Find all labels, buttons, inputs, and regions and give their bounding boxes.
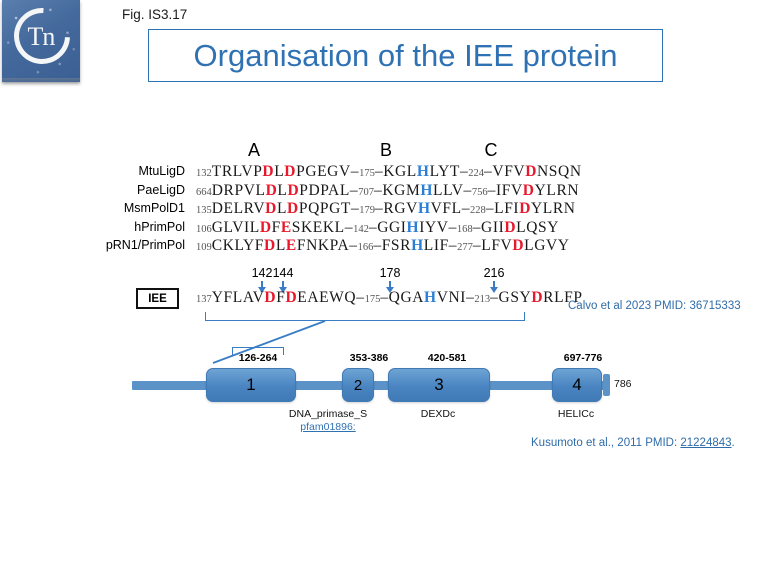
sequence-text: GLVIL	[212, 219, 260, 236]
catalytic-residue-blue: H	[417, 163, 430, 180]
citation-kusumoto-text: Kusumoto et al., 2011 PMID:	[531, 437, 680, 449]
sequence-text: DELRV	[212, 200, 265, 217]
sequence-text: VNI–	[437, 289, 475, 306]
position-pointer-arrow-icon	[493, 281, 495, 288]
sequence-text: –KGM	[374, 182, 420, 199]
sequence-text: YLRN	[531, 200, 576, 217]
protein-name-label: PaeLigD	[0, 183, 185, 197]
position-pointer-arrow-icon	[282, 281, 284, 288]
protein-sequence: 664DRPVLDLDPDPAL–707–KGMHLLV–756–IFVDYLR…	[196, 182, 579, 200]
sequence-text: –KGL	[375, 163, 417, 180]
sequence-text: YFLAV	[212, 289, 265, 306]
motif-header-c: C	[485, 140, 498, 161]
sequence-text: IYV–	[419, 219, 457, 236]
motif-header-a: A	[248, 140, 260, 161]
sequence-text: –RGV	[375, 200, 418, 217]
sequence-text: PDPAL–	[299, 182, 358, 199]
sequence-text: EAEWQ–	[297, 289, 364, 306]
residue-position-number: 135	[196, 205, 212, 216]
catalytic-residue-red: D	[512, 237, 524, 254]
catalytic-residue-red: D	[262, 163, 274, 180]
motif-header-b: B	[380, 140, 392, 161]
catalytic-residue-red: D	[260, 219, 272, 236]
protein-name-label: MtuLigD	[0, 164, 185, 178]
sequence-text: PGEGV–	[296, 163, 359, 180]
protein-length-label: 786	[614, 378, 632, 390]
iee-sequence: 137YFLAVDFDEAEWQ–175–QGAHVNI–213–GSYDRLF…	[196, 289, 583, 307]
alignment-row: MsmPolD1135DELRVDLDPQPGT–179–RGVHVFL–228…	[0, 201, 780, 220]
sequence-text: LYT–	[430, 163, 469, 180]
sequence-text: –IFV	[488, 182, 523, 199]
domain4-range-label: 697-776	[564, 352, 603, 364]
catalytic-residue-red: D	[504, 219, 516, 236]
residue-position-number: 664	[196, 187, 212, 198]
sequence-text: –GSY	[490, 289, 531, 306]
alignment-row: PaeLigD664DRPVLDLDPDPAL–707–KGMHLLV–756–…	[0, 183, 780, 202]
residue-position-marker: 144	[273, 266, 294, 280]
catalytic-residue-red: D	[519, 200, 531, 217]
sequence-text: VFL–	[431, 200, 470, 217]
residue-position-number: 756	[472, 187, 488, 198]
title-box: Organisation of the IEE protein	[148, 29, 663, 82]
citation-kusumoto: Kusumoto et al., 2011 PMID: 21224843.	[531, 437, 735, 449]
catalytic-residue-red: D	[523, 182, 535, 199]
residue-position-number: 106	[196, 224, 212, 235]
domain3-range-label: 420-581	[428, 352, 467, 364]
domain-box-1[interactable]: 1	[206, 368, 296, 402]
catalytic-residue-red: D	[264, 237, 276, 254]
sequence-text: –VFV	[484, 163, 525, 180]
residue-position-number: 137	[196, 294, 212, 305]
residue-position-number: 707	[358, 187, 374, 198]
residue-position-number: 166	[358, 242, 374, 253]
pfam-link[interactable]: pfam01896:	[300, 421, 355, 433]
catalytic-residue-red: D	[287, 200, 299, 217]
residue-position-number: 224	[468, 168, 484, 179]
sequence-text: NSQN	[537, 163, 582, 180]
page-title: Organisation of the IEE protein	[194, 38, 618, 74]
residue-position-number: 175	[365, 294, 381, 305]
alignment-row: MtuLigD132TRLVPDLDPGEGV–175–KGLHLYT–224–…	[0, 164, 780, 183]
residue-position-number: 168	[457, 224, 473, 235]
residue-position-marker: 142	[252, 266, 273, 280]
sequence-text: L	[277, 182, 287, 199]
sequence-text: TRLVP	[212, 163, 263, 180]
protein-end-cap	[603, 374, 610, 396]
catalytic-residue-blue: H	[424, 289, 437, 306]
residue-position-number: 175	[359, 168, 375, 179]
domain-number-4: 4	[572, 375, 581, 395]
residue-position-number: 109	[196, 242, 212, 253]
sequence-text: –GGI	[369, 219, 407, 236]
catalytic-residue-blue: H	[407, 219, 420, 236]
iee-region-bracket	[205, 312, 525, 321]
protein-name-label: hPrimPol	[0, 220, 185, 234]
motif-header-row: ABC	[0, 140, 780, 164]
position-pointer-arrow-icon	[389, 281, 391, 288]
catalytic-residue-blue: H	[420, 182, 433, 199]
sequence-text: –LFI	[486, 200, 519, 217]
alignment-row: pRN1/PrimPol109CKLYFDLEFNKPA–166–FSRHLIF…	[0, 238, 780, 257]
sequence-text: –QGA	[380, 289, 424, 306]
residue-position-number: 142	[353, 224, 369, 235]
domain-number-2: 2	[354, 377, 362, 394]
protein-name-label: pRN1/PrimPol	[0, 238, 185, 252]
residue-position-marker: 216	[484, 266, 505, 280]
catalytic-residue-red: D	[265, 200, 277, 217]
logo-shadow	[2, 78, 80, 84]
catalytic-residue-red: D	[531, 289, 543, 306]
protein-name-label: MsmPolD1	[0, 201, 185, 215]
protein-sequence: 109CKLYFDLEFNKPA–166–FSRHLIF–277–LFVDLGV…	[196, 237, 570, 255]
protein-sequence: 135DELRVDLDPQPGT–179–RGVHVFL–228–LFIDYLR…	[196, 200, 576, 218]
iee-label-box: IEE	[136, 288, 179, 309]
catalytic-residue-red: D	[525, 163, 537, 180]
residue-position-marker: 178	[380, 266, 401, 280]
logo-tn-text: Tn	[2, 22, 80, 52]
catalytic-residue-red: D	[266, 182, 278, 199]
catalytic-residue-red: D	[284, 163, 296, 180]
citation-kusumoto-pmid-link[interactable]: 21224843	[680, 437, 731, 449]
sequence-text: L	[277, 200, 287, 217]
sequence-text: DRPVL	[212, 182, 266, 199]
sequence-text: L	[276, 237, 286, 254]
citation-calvo: Calvo et al 2023 PMID: 36715333	[568, 300, 741, 312]
catalytic-residue-red: E	[281, 219, 292, 236]
sequence-text: LLV–	[433, 182, 472, 199]
catalytic-residue-red: D	[287, 182, 299, 199]
figure-label: Fig. IS3.17	[122, 7, 187, 22]
domain-number-3: 3	[434, 375, 443, 395]
citation-kusumoto-suffix: .	[732, 437, 735, 449]
sequence-text: –FSR	[373, 237, 411, 254]
residue-position-number: 277	[457, 242, 473, 253]
sequence-text: –GII	[473, 219, 505, 236]
domain1-range-label: 126-264	[239, 352, 278, 364]
sequence-text: FNKPA–	[297, 237, 358, 254]
sequence-text: F	[272, 219, 281, 236]
sequence-text: CKLYF	[212, 237, 264, 254]
catalytic-residue-red: E	[286, 237, 297, 254]
sequence-text: L	[274, 163, 284, 180]
domain2-range-label: 353-386	[350, 352, 389, 364]
protein-sequence: 132TRLVPDLDPGEGV–175–KGLHLYT–224–VFVDNSQ…	[196, 163, 582, 181]
domain3-caption: DEXDc	[421, 408, 455, 420]
sequence-text: PQPGT–	[299, 200, 359, 217]
residue-position-number: 228	[470, 205, 486, 216]
domain-box-3[interactable]: 3	[388, 368, 490, 402]
position-pointer-arrow-icon	[261, 281, 263, 288]
alignment-row: hPrimPol106GLVILDFESKEKL–142–GGIHIYV–168…	[0, 220, 780, 239]
residue-position-number: 132	[196, 168, 212, 179]
catalytic-residue-blue: H	[411, 237, 424, 254]
sequence-text: –LFV	[473, 237, 512, 254]
domain1-caption: DNA_primase_S	[289, 408, 367, 420]
catalytic-residue-red: D	[264, 289, 276, 306]
catalytic-residue-blue: H	[418, 200, 431, 217]
sequence-text: SKEKL–	[292, 219, 353, 236]
catalytic-residue-red: D	[285, 289, 297, 306]
domain-box-4[interactable]: 4	[552, 368, 602, 402]
domain-box-2[interactable]: 2	[342, 368, 374, 402]
sequence-text: YLRN	[535, 182, 580, 199]
sequence-text: LIF–	[424, 237, 457, 254]
sequence-text: LQSY	[516, 219, 559, 236]
domain4-caption: HELICc	[558, 408, 594, 420]
slide-canvas: Tn Fig. IS3.17 Organisation of the IEE p…	[0, 0, 780, 585]
residue-position-number: 179	[359, 205, 375, 216]
protein-sequence: 106GLVILDFESKEKL–142–GGIHIYV–168–GIIDLQS…	[196, 219, 559, 237]
institution-logo: Tn	[2, 0, 80, 82]
domain-number-1: 1	[246, 375, 255, 395]
sequence-alignment: ABC MtuLigD132TRLVPDLDPGEGV–175–KGLHLYT–…	[0, 140, 780, 257]
residue-position-number: 213	[474, 294, 490, 305]
sequence-text: LGVY	[524, 237, 569, 254]
